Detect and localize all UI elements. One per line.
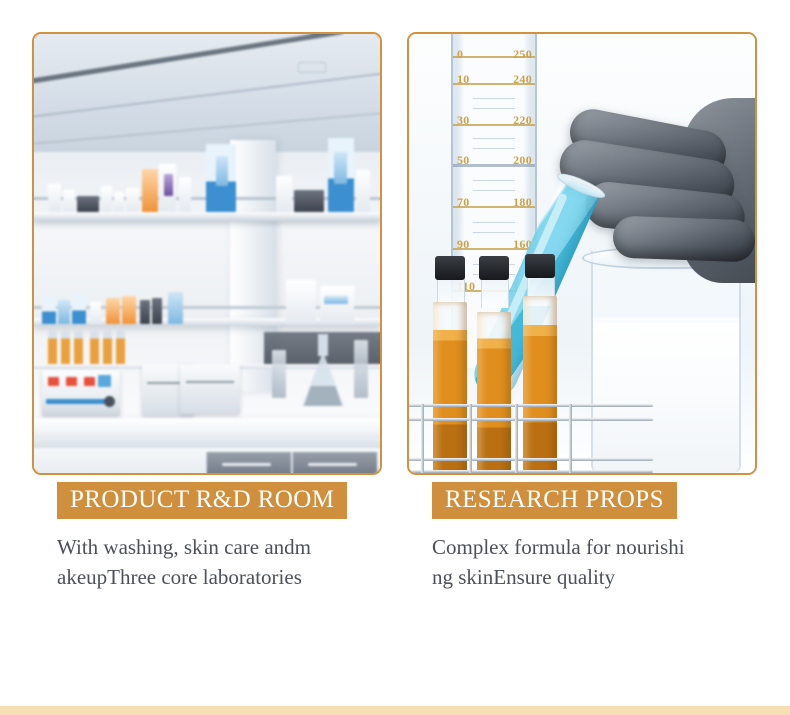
product-box [152, 298, 162, 324]
cylinder-mark-right: 200 [513, 153, 532, 168]
sample-vial [61, 330, 70, 364]
product-box [72, 294, 86, 324]
panels-row: 0 250 10 240 30 220 50 200 70 180 90 160… [0, 0, 790, 482]
product-box [140, 300, 150, 324]
product-box [42, 296, 56, 324]
photo-research-props: 0 250 10 240 30 220 50 200 70 180 90 160… [409, 34, 755, 473]
bench-drawer [206, 452, 291, 473]
product-box [106, 298, 120, 324]
indicator-light [66, 377, 77, 386]
beaker-liquid [593, 323, 739, 473]
product-box [179, 177, 191, 212]
upper-shelf [34, 212, 380, 221]
badge-research-props: RESEARCH PROPS [432, 482, 677, 519]
sample-vial [74, 330, 83, 364]
product-box [276, 176, 292, 212]
product-box [286, 280, 316, 324]
captions-row: PRODUCT R&D ROOM With washing, skin care… [0, 482, 790, 612]
caption-line: With washing, skin care andm [57, 533, 377, 563]
cylinder-mark-right: 180 [513, 195, 532, 210]
panel-product-rd-room[interactable] [32, 32, 382, 475]
caption-research-props: RESEARCH PROPS Complex formula for nouri… [432, 482, 787, 593]
control-strip [46, 399, 110, 404]
product-box [168, 292, 183, 324]
product-box [101, 186, 112, 212]
product-box [324, 296, 348, 304]
sample-vial [433, 302, 467, 473]
caption-line: akeupThree core laboratories [57, 563, 377, 593]
product-box [114, 192, 124, 212]
product-box [90, 302, 101, 324]
sample-vial [477, 312, 511, 473]
product-box [122, 296, 136, 324]
indicator-light [48, 377, 59, 386]
product-box [320, 286, 354, 324]
cylinder-mark-left: 10 [457, 72, 470, 87]
props-scene: 0 250 10 240 30 220 50 200 70 180 90 160… [409, 34, 755, 473]
sample-vial [523, 296, 557, 473]
rack-post [421, 404, 424, 473]
product-box [48, 184, 61, 212]
caption-text-product-rd-room: With washing, skin care andm akeupThree … [57, 533, 377, 593]
ceiling-vent-icon [298, 62, 326, 73]
ceiling [34, 34, 380, 152]
vial-cap [435, 256, 465, 280]
panel-research-props[interactable]: 0 250 10 240 30 220 50 200 70 180 90 160… [407, 32, 757, 475]
indicator-light [84, 377, 95, 386]
product-box [356, 170, 370, 212]
product-box [334, 152, 347, 184]
cylinder-mark-left: 50 [457, 153, 470, 168]
rack-post [569, 404, 572, 473]
bench-drawer [292, 452, 377, 473]
cylinder-mark-right: 220 [513, 113, 532, 128]
badge-product-rd-room: PRODUCT R&D ROOM [57, 482, 347, 519]
lab-scene [34, 34, 380, 473]
product-box [126, 188, 139, 212]
lab-analyzer [42, 370, 120, 416]
vial-cap [479, 256, 509, 280]
control-knob [104, 396, 115, 407]
caption-text-research-props: Complex formula for nourishi ng skinEnsu… [432, 533, 752, 593]
cylinder-mark-left: 30 [457, 113, 470, 128]
lab-instrument [180, 364, 240, 414]
promo-page: 0 250 10 240 30 220 50 200 70 180 90 160… [0, 0, 790, 715]
sample-vial [103, 330, 112, 364]
display-panel [98, 375, 111, 387]
sample-vial [90, 330, 99, 364]
product-box [164, 174, 173, 196]
photo-product-rd-room [34, 34, 380, 473]
product-box [142, 169, 158, 212]
glass-cylinder [272, 350, 286, 398]
caption-line: Complex formula for nourishi [432, 533, 752, 563]
product-box [294, 190, 324, 212]
product-box [216, 156, 228, 186]
vial-row [48, 330, 224, 364]
vial-cap [525, 254, 555, 278]
cylinder-mark-left: 0 [457, 47, 463, 62]
rack-post [515, 404, 518, 473]
rack-wire [409, 470, 653, 473]
cylinder-mark-left: 70 [457, 195, 470, 210]
product-box [58, 300, 70, 324]
cylinder-mark-right: 240 [513, 72, 532, 87]
product-box [63, 190, 75, 212]
product-box [77, 196, 99, 212]
bottom-accent-strip [0, 706, 790, 715]
glass-cylinder [354, 340, 368, 398]
cylinder-mark-right: 250 [513, 47, 532, 62]
rack-wire [409, 458, 653, 461]
rack-post [469, 404, 472, 473]
rack-wire [409, 404, 653, 407]
caption-line: ng skinEnsure quality [432, 563, 752, 593]
sample-vial [48, 330, 57, 364]
cylinder-mark-left: 90 [457, 237, 470, 252]
glove-finger [612, 216, 755, 263]
beaker [591, 251, 741, 473]
rack-wire [409, 418, 653, 421]
sample-vial [116, 330, 125, 364]
caption-product-rd-room: PRODUCT R&D ROOM With washing, skin care… [57, 482, 412, 593]
